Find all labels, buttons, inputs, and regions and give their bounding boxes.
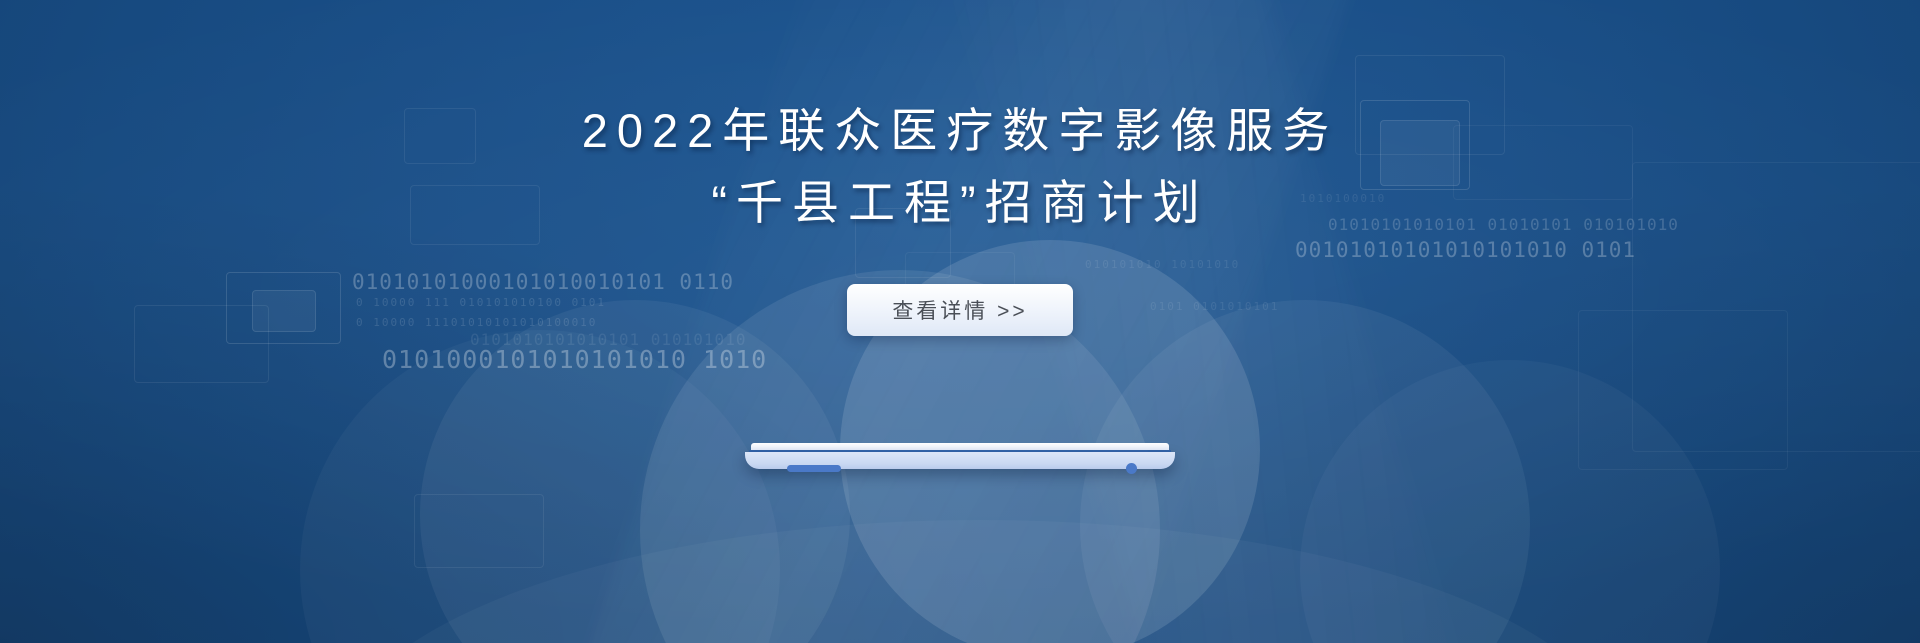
banner-title-line-1: 2022年联众医疗数字影像服务: [582, 95, 1339, 167]
laptop-screen-edge: [751, 443, 1169, 450]
banner-content: 2022年联众医疗数字影像服务 “千县工程”招商计划 查看详情 >>: [0, 0, 1920, 643]
view-details-button[interactable]: 查看详情 >>: [847, 284, 1073, 336]
promo-banner: 01010101000101010010101 0110 0 10000 111…: [0, 0, 1920, 643]
banner-title-block: 2022年联众医疗数字影像服务 “千县工程”招商计划: [582, 95, 1339, 239]
banner-title-line-2: “千县工程”招商计划: [582, 167, 1339, 239]
cta-wrapper: 查看详情 >>: [847, 284, 1073, 336]
laptop-body: [745, 452, 1175, 469]
laptop-base-illustration: [745, 443, 1175, 471]
laptop-power-dot-icon: [1126, 463, 1137, 474]
laptop-speaker-grill-icon: [787, 465, 841, 472]
